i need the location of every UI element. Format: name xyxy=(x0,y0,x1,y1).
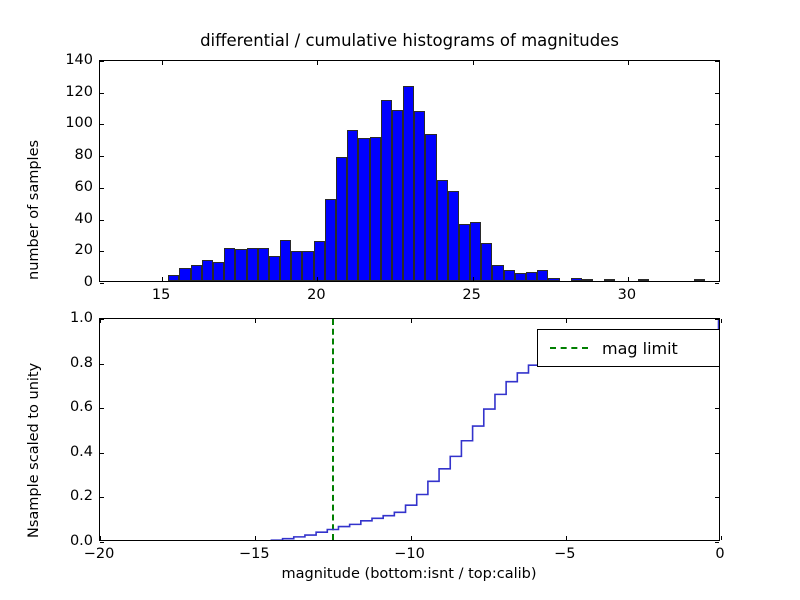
histogram-bar xyxy=(537,270,548,281)
x-tick-mark xyxy=(628,277,629,281)
legend-box: mag limit xyxy=(537,329,720,367)
mag-limit-legend-swatch xyxy=(550,347,588,349)
histogram-bar xyxy=(314,241,325,281)
histogram-bar xyxy=(202,260,213,281)
histogram-bar xyxy=(224,248,235,281)
y-tick-label: 20 xyxy=(47,242,93,258)
y-tick-mark xyxy=(715,542,719,543)
histogram-bar xyxy=(481,243,492,281)
y-tick-label: 120 xyxy=(47,84,93,100)
y-tick-mark xyxy=(100,497,104,498)
histogram-bar xyxy=(604,279,615,281)
figure-canvas: differential / cumulative histograms of … xyxy=(0,0,800,600)
y-tick-mark xyxy=(715,453,719,454)
x-tick-mark xyxy=(473,277,474,281)
x-tick-mark xyxy=(100,536,101,540)
histogram-bar xyxy=(492,265,503,281)
x-tick-label: 0 xyxy=(715,546,724,562)
x-tick-label: −15 xyxy=(239,546,270,562)
y-tick-label: 0.8 xyxy=(47,355,93,371)
y-tick-mark xyxy=(100,220,104,221)
y-tick-label: 80 xyxy=(47,147,93,163)
x-tick-label: 20 xyxy=(307,287,325,303)
x-tick-label: 15 xyxy=(152,287,170,303)
y-tick-mark xyxy=(715,61,719,62)
histogram-bar xyxy=(358,138,369,281)
y-tick-label: 140 xyxy=(47,52,93,68)
histogram-bar xyxy=(325,199,336,281)
y-tick-label: 0.4 xyxy=(47,444,93,460)
histogram-bar xyxy=(213,262,224,281)
histogram-bar xyxy=(269,256,280,281)
y-tick-mark xyxy=(100,453,104,454)
histogram-bar xyxy=(403,86,414,281)
histogram-bar xyxy=(526,272,537,282)
bottom-yaxis-label: Nsample scaled to unity xyxy=(26,363,42,538)
y-tick-mark xyxy=(715,497,719,498)
bottom-xaxis-label: magnitude (bottom:isnt / top:calib) xyxy=(281,566,536,582)
y-tick-mark xyxy=(715,156,719,157)
x-tick-mark xyxy=(317,61,318,65)
x-tick-mark xyxy=(721,536,722,540)
y-tick-mark xyxy=(100,542,104,543)
x-tick-label: 25 xyxy=(462,287,480,303)
histogram-bar xyxy=(280,240,291,281)
histogram-bar xyxy=(504,270,515,281)
x-tick-mark xyxy=(566,319,567,323)
page-title: differential / cumulative histograms of … xyxy=(99,31,720,50)
histogram-bar xyxy=(548,278,559,281)
y-tick-label: 0.2 xyxy=(47,488,93,504)
y-tick-label: 0.6 xyxy=(47,399,93,415)
y-tick-mark xyxy=(100,124,104,125)
x-tick-mark xyxy=(255,536,256,540)
y-tick-mark xyxy=(100,364,104,365)
histogram-bar xyxy=(414,111,425,281)
x-tick-mark xyxy=(162,277,163,281)
histogram-bar xyxy=(168,275,179,281)
histogram-bar xyxy=(515,273,526,281)
x-tick-mark xyxy=(628,61,629,65)
histogram-bar xyxy=(694,279,705,281)
y-tick-mark xyxy=(715,408,719,409)
y-tick-mark xyxy=(715,251,719,252)
histogram-bar xyxy=(459,224,470,281)
histogram-bar xyxy=(437,180,448,281)
y-tick-label: 1.0 xyxy=(47,310,93,326)
x-tick-mark xyxy=(317,277,318,281)
top-plot-area xyxy=(100,61,719,281)
histogram-bar xyxy=(582,279,593,281)
y-tick-mark xyxy=(715,319,719,320)
y-tick-mark xyxy=(715,283,719,284)
x-tick-mark xyxy=(411,536,412,540)
top-histogram-axes xyxy=(99,60,720,282)
x-tick-mark xyxy=(473,61,474,65)
top-yaxis-label: number of samples xyxy=(26,140,42,280)
histogram-bar xyxy=(336,157,347,281)
histogram-bar xyxy=(291,251,302,281)
y-tick-mark xyxy=(100,408,104,409)
histogram-bar xyxy=(179,268,190,281)
y-tick-label: 0.0 xyxy=(47,533,93,549)
x-tick-mark xyxy=(566,536,567,540)
y-tick-label: 60 xyxy=(47,179,93,195)
histogram-bar xyxy=(425,134,436,281)
x-tick-mark xyxy=(721,319,722,323)
histogram-bar xyxy=(638,279,649,281)
y-tick-mark xyxy=(715,93,719,94)
y-tick-mark xyxy=(100,251,104,252)
y-tick-mark xyxy=(100,188,104,189)
y-tick-mark xyxy=(100,283,104,284)
histogram-bar xyxy=(392,110,403,281)
histogram-bar xyxy=(191,265,202,281)
histogram-bar xyxy=(347,130,358,281)
y-tick-mark xyxy=(715,220,719,221)
y-tick-mark xyxy=(715,188,719,189)
histogram-bar xyxy=(571,278,582,281)
histogram-bar xyxy=(470,222,481,281)
y-tick-label: 40 xyxy=(47,211,93,227)
histogram-bar xyxy=(235,249,246,281)
y-tick-mark xyxy=(100,156,104,157)
x-tick-mark xyxy=(255,319,256,323)
histogram-bar xyxy=(381,100,392,281)
histogram-bar xyxy=(258,248,269,281)
x-tick-label: −10 xyxy=(394,546,425,562)
y-tick-mark xyxy=(100,93,104,94)
histogram-bar xyxy=(370,137,381,281)
histogram-bar xyxy=(448,191,459,281)
y-tick-mark xyxy=(100,61,104,62)
legend-label-mag-limit: mag limit xyxy=(602,339,678,358)
x-tick-mark xyxy=(411,319,412,323)
x-tick-label: −5 xyxy=(554,546,575,562)
x-tick-label: 30 xyxy=(618,287,636,303)
y-tick-mark xyxy=(100,319,104,320)
histogram-bar xyxy=(247,248,258,281)
histogram-bar xyxy=(302,251,313,281)
y-tick-mark xyxy=(715,124,719,125)
y-tick-label: 0 xyxy=(47,274,93,290)
y-tick-label: 100 xyxy=(47,115,93,131)
x-tick-mark xyxy=(162,61,163,65)
